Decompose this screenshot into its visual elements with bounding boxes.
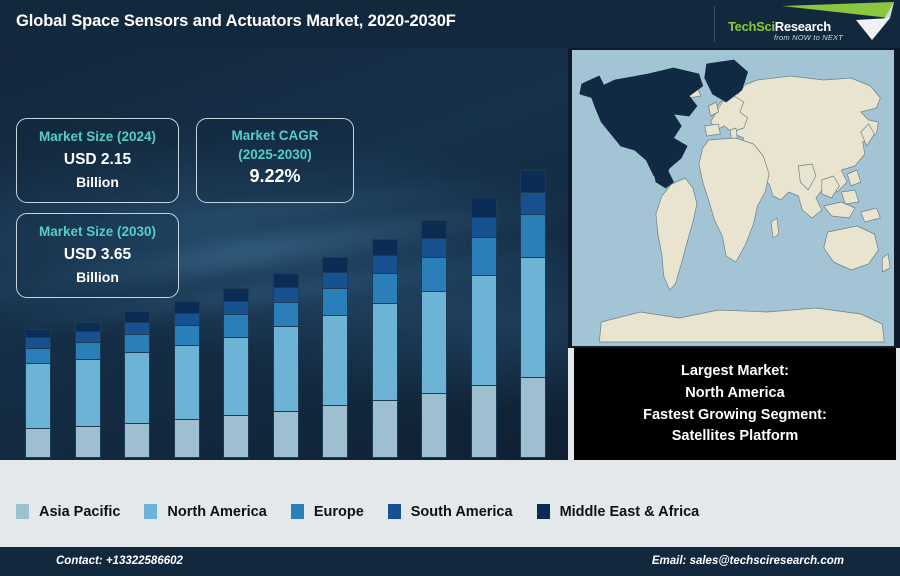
philippines <box>847 170 861 186</box>
bar-segment-south-america <box>25 337 51 348</box>
legend-label: Asia Pacific <box>39 504 120 520</box>
madagascar <box>771 218 779 238</box>
world-map-svg <box>572 50 894 346</box>
infographic-page: Global Space Sensors and Actuators Marke… <box>0 0 900 576</box>
bar-2020[interactable] <box>25 329 51 458</box>
bar-segment-north-america <box>372 303 398 399</box>
bar-segment-middle-east-africa <box>520 170 546 192</box>
header-bar: Global Space Sensors and Actuators Marke… <box>0 0 900 48</box>
legend-label: South America <box>411 504 513 520</box>
legend-item-middle-east-africa[interactable]: Middle East & Africa <box>537 504 700 520</box>
largest-market-label: Largest Market: <box>681 361 789 382</box>
bar-segment-asia-pacific <box>322 405 348 458</box>
new-guinea <box>861 208 881 222</box>
bar-segment-north-america <box>75 359 101 426</box>
logo-divider <box>714 6 715 42</box>
bar-segment-middle-east-africa <box>421 220 447 238</box>
bar-segment-europe <box>124 334 150 352</box>
bar-segment-south-america <box>75 331 101 342</box>
bar-2027F[interactable] <box>372 239 398 458</box>
stat-label-line2: (2025-2030) <box>197 147 353 162</box>
stat-card-market-cagr: Market CAGR (2025-2030) 9.22% <box>196 118 354 203</box>
stat-label-line1: Market CAGR <box>197 128 353 143</box>
bar-segment-north-america <box>520 257 546 377</box>
bar-segment-asia-pacific <box>25 428 51 458</box>
bar-segment-middle-east-africa <box>372 239 398 256</box>
legend-swatch <box>144 504 157 519</box>
iberia <box>705 124 721 136</box>
fastest-segment-label: Fastest Growing Segment: <box>643 405 827 426</box>
bar-segment-north-america <box>174 345 200 419</box>
logo-wordmark: TechSciResearch <box>728 19 831 34</box>
bar-segment-asia-pacific <box>124 423 150 459</box>
bar-segment-south-america <box>322 272 348 288</box>
bar-segment-south-america <box>223 301 249 314</box>
bar-segment-north-america <box>25 363 51 428</box>
world-map <box>572 50 894 346</box>
bar-segment-north-america <box>421 291 447 394</box>
north-america-highlighted <box>590 68 703 182</box>
new-zealand <box>882 254 890 272</box>
bar-segment-asia-pacific <box>223 415 249 458</box>
bar-segment-europe <box>421 257 447 291</box>
bar-2029F[interactable] <box>471 197 497 458</box>
logo-brand-secondary: Research <box>775 19 831 34</box>
legend-item-south-america[interactable]: South America <box>388 504 513 520</box>
bar-segment-europe <box>25 348 51 363</box>
indonesia <box>824 202 855 218</box>
stat-label: Market Size (2030) <box>17 224 178 239</box>
stat-unit: Billion <box>17 269 178 285</box>
legend-swatch <box>537 504 550 519</box>
logo-tagline: from NOW to NEXT <box>774 33 843 42</box>
bar-2024[interactable] <box>223 288 249 458</box>
australia-landmass <box>824 226 879 270</box>
bar-segment-middle-east-africa <box>223 288 249 301</box>
page-title: Global Space Sensors and Actuators Marke… <box>16 12 456 31</box>
stat-value: USD 3.65 <box>17 246 178 264</box>
bar-segment-south-america <box>174 313 200 326</box>
bar-segment-south-america <box>471 217 497 238</box>
bar-2025E[interactable] <box>273 273 299 458</box>
bar-segment-europe <box>75 342 101 359</box>
bar-segment-asia-pacific <box>75 426 101 458</box>
stat-unit: Billion <box>17 174 178 190</box>
bar-segment-south-america <box>421 238 447 257</box>
stat-label: Market Size (2024) <box>17 129 178 144</box>
south-america-landmass <box>656 178 697 290</box>
bar-segment-asia-pacific <box>471 385 497 458</box>
bar-segment-europe <box>471 237 497 275</box>
highlights-box: Largest Market: North America Fastest Gr… <box>574 348 896 460</box>
bar-2023[interactable] <box>174 301 200 458</box>
legend-swatch <box>291 504 304 519</box>
bar-segment-middle-east-africa <box>471 197 497 217</box>
bar-segment-europe <box>520 214 546 257</box>
africa-landmass <box>699 138 769 262</box>
bar-segment-asia-pacific <box>520 377 546 458</box>
bar-segment-middle-east-africa <box>25 329 51 338</box>
bar-2021[interactable] <box>75 322 101 458</box>
chart-panel: 202020212022202320242025E2026F2027F2028F… <box>0 48 568 488</box>
bar-2030F[interactable] <box>520 170 546 458</box>
bar-segment-north-america <box>322 315 348 405</box>
bar-segment-north-america <box>223 337 249 416</box>
stat-card-market-size-2024: Market Size (2024) USD 2.15 Billion <box>16 118 179 203</box>
legend-label: North America <box>167 504 266 520</box>
footer-contact: Contact: +13322586602 <box>56 555 183 567</box>
bar-segment-middle-east-africa <box>174 301 200 313</box>
largest-market-value: North America <box>685 383 784 404</box>
bar-segment-middle-east-africa <box>322 257 348 272</box>
antarctica-landmass <box>599 308 884 342</box>
bar-segment-north-america <box>471 275 497 385</box>
bar-segment-asia-pacific <box>273 411 299 458</box>
fastest-segment-value: Satellites Platform <box>672 426 799 447</box>
bar-2022[interactable] <box>124 311 150 458</box>
bar-segment-north-america <box>124 352 150 422</box>
chart-legend: Asia PacificNorth AmericaEuropeSouth Ame… <box>0 488 900 535</box>
legend-item-europe[interactable]: Europe <box>291 504 364 520</box>
bar-segment-asia-pacific <box>174 419 200 458</box>
stat-card-market-size-2030: Market Size (2030) USD 3.65 Billion <box>16 213 179 298</box>
bar-segment-south-america <box>124 322 150 334</box>
bar-segment-middle-east-africa <box>75 322 101 331</box>
legend-label: Europe <box>314 504 364 520</box>
footer-email: Email: sales@techsciresearch.com <box>652 555 844 567</box>
bar-segment-south-america <box>273 287 299 302</box>
footer-bar: Contact: +13322586602 Email: sales@techs… <box>0 547 900 576</box>
bar-segment-europe <box>322 288 348 316</box>
borneo <box>841 190 859 204</box>
bar-segment-europe <box>174 325 200 345</box>
world-map-panel <box>568 48 900 348</box>
bar-segment-south-america <box>372 255 398 272</box>
legend-label: Middle East & Africa <box>560 504 700 520</box>
bar-segment-south-america <box>520 192 546 214</box>
bar-segment-asia-pacific <box>421 393 447 458</box>
bar-segment-europe <box>223 314 249 336</box>
logo-brand-primary: TechSci <box>728 19 775 34</box>
legend-item-north-america[interactable]: North America <box>144 504 266 520</box>
bar-2028F[interactable] <box>421 220 447 458</box>
stat-value: 9.22% <box>197 166 353 187</box>
techsci-logo: TechSciResearch from NOW to NEXT <box>714 0 894 48</box>
bar-2026F[interactable] <box>322 257 348 458</box>
bar-segment-europe <box>273 302 299 326</box>
legend-swatch <box>388 504 401 519</box>
bar-segment-middle-east-africa <box>124 311 150 322</box>
legend-item-asia-pacific[interactable]: Asia Pacific <box>16 504 120 520</box>
stat-value: USD 2.15 <box>17 151 178 169</box>
x-axis-strip <box>0 460 568 488</box>
bar-segment-middle-east-africa <box>273 273 299 286</box>
bar-segment-asia-pacific <box>372 400 398 458</box>
bar-segment-europe <box>372 273 398 304</box>
bar-segment-north-america <box>273 326 299 410</box>
legend-swatch <box>16 504 29 519</box>
